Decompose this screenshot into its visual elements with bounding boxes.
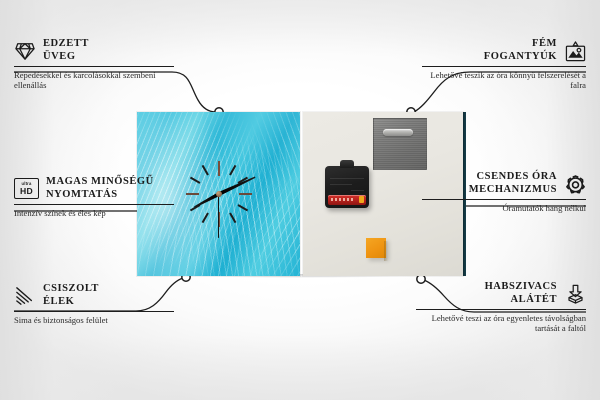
product-image [137, 112, 463, 276]
polished-edge-icon [14, 286, 36, 306]
callout-title: CSISZOLT ÉLEK [43, 283, 99, 308]
diamond-icon [14, 41, 36, 61]
callout-title: MAGAS MINŐSÉGŰ NYOMTATÁS [46, 176, 154, 201]
callout-title: FÉM FOGANTYÚK [484, 38, 557, 63]
divider [14, 204, 174, 205]
callout-title: CSENDES ÓRA MECHANIZMUS [469, 171, 557, 196]
metal-hanger-plate [373, 118, 427, 170]
callout-description: Óramutatók hang nélkül [422, 203, 586, 213]
callout-description: Repedésekkel és karcolásokkal szembeni e… [14, 70, 174, 91]
clock-second-hand [218, 194, 220, 238]
battery-label [331, 198, 355, 201]
mechanism-seam [330, 178, 364, 179]
ultra-hd-icon-main-text: HD [20, 187, 33, 196]
foam-spacer-pad [366, 238, 386, 258]
infographic-canvas: EDZETT ÜVEG Repedésekkel és karcolásokka… [0, 0, 600, 400]
callout-description: Sima és biztonságos felület [14, 315, 174, 325]
callout-silent-mechanism: CSENDES ÓRA MECHANIZMUS Óramutatók hang … [422, 171, 586, 213]
callout-metal-handles: FÉM FOGANTYÚK Lehetővé teszik az óra kön… [422, 38, 586, 91]
divider [416, 309, 586, 310]
clock-mechanism [325, 166, 369, 208]
callout-description: Lehetővé teszi az óra egyenletes távolsá… [416, 313, 586, 334]
gear-icon [564, 174, 586, 194]
mechanism-seam [330, 184, 352, 185]
divider [14, 66, 174, 67]
foam-pad-arrow-icon [564, 284, 586, 304]
clock-center-pin [216, 191, 222, 197]
callout-description: Lehetővé teszik az óra könnyű felszerelé… [422, 70, 586, 91]
mechanism-seam [351, 190, 364, 191]
divider [422, 199, 586, 200]
callout-title: EDZETT ÜVEG [43, 38, 89, 63]
hanger-slot [383, 129, 413, 136]
callout-polished-edges: CSISZOLT ÉLEK Sima és biztonságos felüle… [14, 283, 174, 325]
divider [14, 311, 174, 312]
wall-mount-frame-icon [564, 41, 586, 61]
callout-foam-pad: HABSZIVACS ALÁTÉT Lehetővé teszi az óra … [416, 281, 586, 334]
ultra-hd-icon: ultra HD [14, 178, 39, 199]
mechanism-shaft [340, 160, 354, 168]
callout-high-quality-print: ultra HD MAGAS MINŐSÉGŰ NYOMTATÁS Intenz… [14, 176, 174, 218]
callout-description: Intenzív színek és éles kép [14, 208, 174, 218]
divider [422, 66, 586, 67]
callout-title: HABSZIVACS ALÁTÉT [485, 281, 557, 306]
battery [328, 195, 366, 205]
callout-tempered-glass: EDZETT ÜVEG Repedésekkel és karcolásokka… [14, 38, 174, 91]
